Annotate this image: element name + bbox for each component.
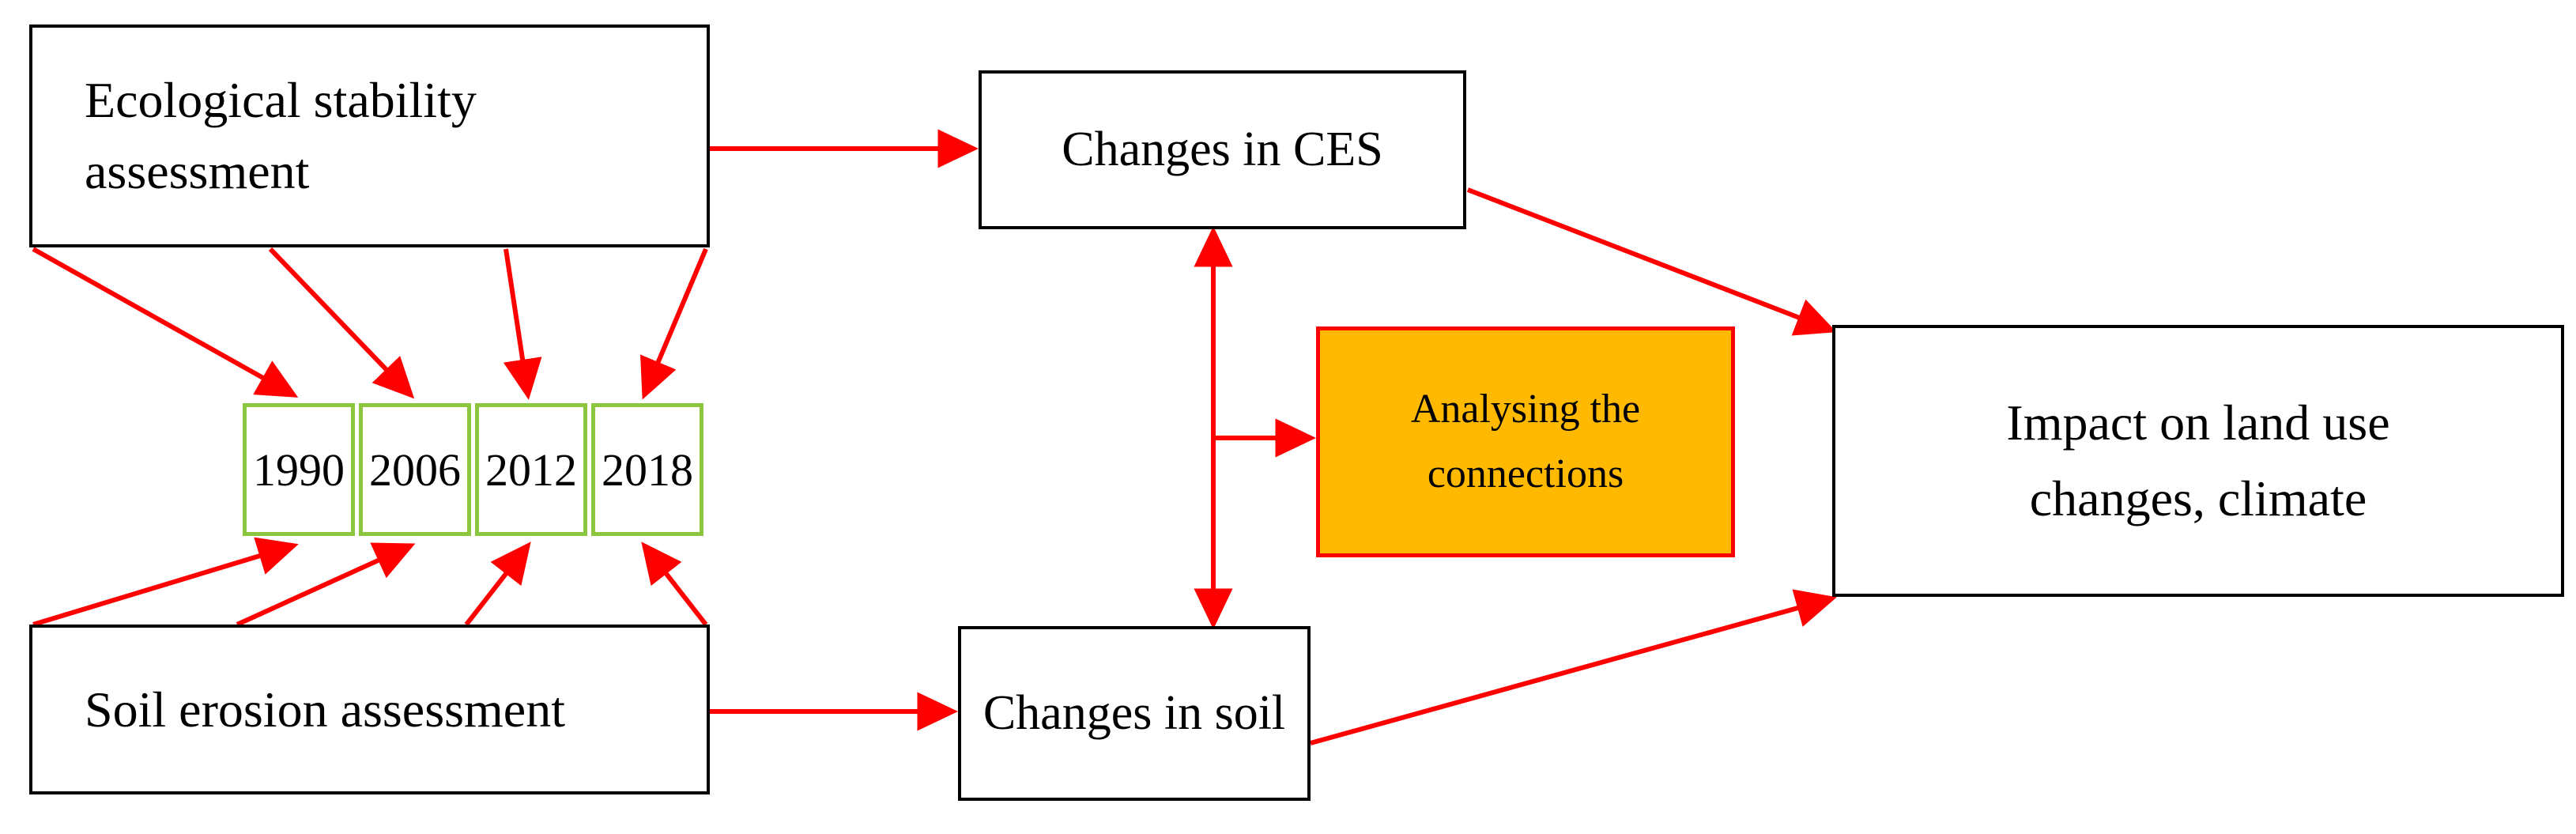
edge-soil-to-year-1990 bbox=[33, 545, 294, 625]
node-label-line: Changes in soil bbox=[983, 685, 1285, 742]
node-label-line: Ecological stability bbox=[85, 75, 477, 126]
node-label-line: changes, climate bbox=[2030, 474, 2367, 524]
edge-ecostab-to-year-1990 bbox=[33, 249, 294, 395]
edge-changes-soil-to-impact bbox=[1311, 598, 1832, 743]
node-year-1990[interactable]: 1990 bbox=[243, 403, 355, 536]
node-label-line: 2012 bbox=[485, 443, 577, 496]
node-analysing-the-connections[interactable]: Analysing the connections bbox=[1316, 326, 1735, 557]
edge-soil-to-year-2018 bbox=[644, 545, 706, 625]
node-changes-in-ces[interactable]: Changes in CES bbox=[979, 70, 1466, 229]
node-label-line: Analysing the bbox=[1411, 389, 1640, 430]
node-label-line: 2006 bbox=[369, 443, 461, 496]
node-label-line: Soil erosion assessment bbox=[85, 681, 565, 739]
edge-ecostab-to-year-2012 bbox=[506, 249, 528, 395]
node-label-line: assessment bbox=[85, 146, 309, 197]
node-ecological-stability-assessment[interactable]: Ecological stability assessment bbox=[29, 25, 710, 247]
edge-ecostab-to-year-2018 bbox=[644, 249, 706, 395]
node-year-2018[interactable]: 2018 bbox=[591, 403, 703, 536]
node-label-line: 1990 bbox=[253, 443, 345, 496]
edge-ecostab-to-year-2006 bbox=[270, 249, 411, 395]
node-label-line: connections bbox=[1428, 454, 1624, 495]
node-label-line: Changes in CES bbox=[1062, 122, 1382, 178]
node-soil-erosion-assessment[interactable]: Soil erosion assessment bbox=[29, 625, 710, 794]
node-year-2006[interactable]: 2006 bbox=[359, 403, 471, 536]
node-label-line: 2018 bbox=[602, 443, 693, 496]
node-impact-on-land-use-changes-climate[interactable]: Impact on land use changes, climate bbox=[1832, 325, 2564, 597]
flowchart-diagram: Ecological stability assessment Soil ero… bbox=[0, 0, 2576, 834]
edge-ces-to-impact bbox=[1468, 190, 1832, 330]
edge-soil-to-year-2012 bbox=[466, 545, 528, 625]
node-changes-in-soil[interactable]: Changes in soil bbox=[958, 626, 1311, 801]
node-label-line: Impact on land use bbox=[2006, 398, 2389, 448]
node-year-2012[interactable]: 2012 bbox=[475, 403, 587, 536]
edge-soil-to-year-2006 bbox=[237, 545, 411, 625]
